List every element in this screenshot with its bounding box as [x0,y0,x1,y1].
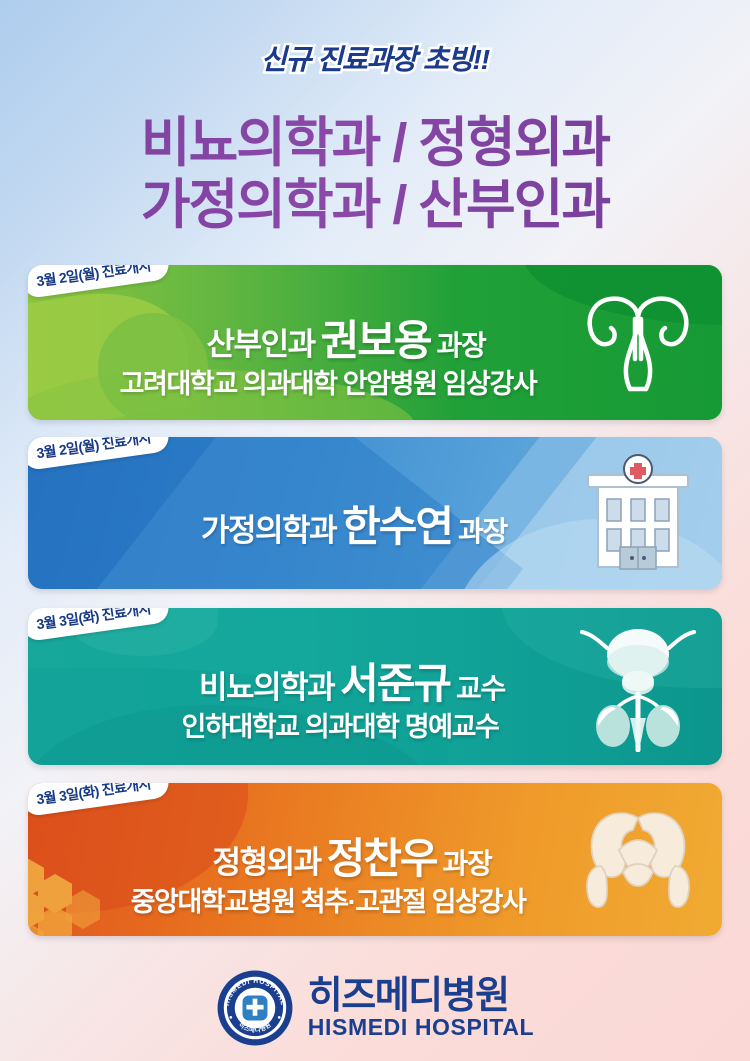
doctor-headline: 정형외과정찬우과장 [52,825,652,886]
doctor-role: 과장 [437,330,486,361]
hospital-name-en: HISMEDI HOSPITAL [308,1016,534,1039]
doctor-role: 과장 [458,516,507,547]
start-date-badge: 3월 3일(화) 진료개시 [28,783,171,817]
poster-header: 신규 진료과장 초빙!! 신규 진료과장 초빙!! 비뇨의학과 / 정형외과 가… [0,0,750,255]
doctor-role: 과장 [443,848,492,879]
hospital-footer: HISMEDI HOSPITAL 히즈메디병원 히즈메디병원 HISMEDI H… [0,955,750,1061]
doctor-banner-family-medicine[interactable]: 3월 2일(월) 진료개시 가정의학과한수연과장 [28,437,722,589]
hismedi-logo-emblem: HISMEDI HOSPITAL 히즈메디병원 [216,969,294,1047]
doctor-department: 가정의학과 [201,513,336,548]
doctor-headline: 가정의학과한수연과장 [54,493,654,554]
doctor-banner-urology[interactable]: 3월 3일(화) 진료개시 비뇨의학과서준규교수 인하대학교 의과대학 명예교수 [28,608,722,765]
doctor-department: 비뇨의학과 [199,670,334,705]
start-date-badge: 3월 2일(월) 진료개시 [28,437,171,471]
hospital-name-block: 히즈메디병원 HISMEDI HOSPITAL [308,977,534,1039]
doctor-name: 권보용 [321,317,431,364]
hospital-name-kr: 히즈메디병원 [308,977,534,1016]
doctor-banner-obgyn[interactable]: 3월 2일(월) 진료개시 산부인과권보용과장 고려대학교 의과대학 안암병원 … [28,265,722,420]
doctor-role: 교수 [456,673,505,704]
doctor-department: 정형외과 [213,845,321,880]
doctor-affiliation: 고려대학교 의과대학 안암병원 임상강사 [28,362,634,401]
doctor-name: 서준규 [340,660,450,707]
start-date-badge: 3월 3일(화) 진료개시 [28,608,171,642]
page-title-line-2: 가정의학과 / 산부인과 [0,160,750,239]
doctor-affiliation: 중앙대학교병원 척추·고관절 임상강사 [28,880,634,919]
doctor-banner-orthopedics[interactable]: 3월 3일(화) 진료개시 정형외과정찬우과장 중앙대학교병원 척추·고관절 임… [28,783,722,936]
doctor-headline: 산부인과권보용과장 [46,307,646,368]
kicker-text: 신규 진료과장 초빙!! [0,38,750,78]
doctor-headline: 비뇨의학과서준규교수 [52,650,652,711]
doctor-affiliation: 인하대학교 의과대학 명예교수 [34,705,646,744]
doctor-department: 산부인과 [207,327,315,362]
doctor-name: 정찬우 [327,835,437,882]
doctor-name: 한수연 [342,503,452,550]
start-date-badge: 3월 2일(월) 진료개시 [28,265,171,299]
